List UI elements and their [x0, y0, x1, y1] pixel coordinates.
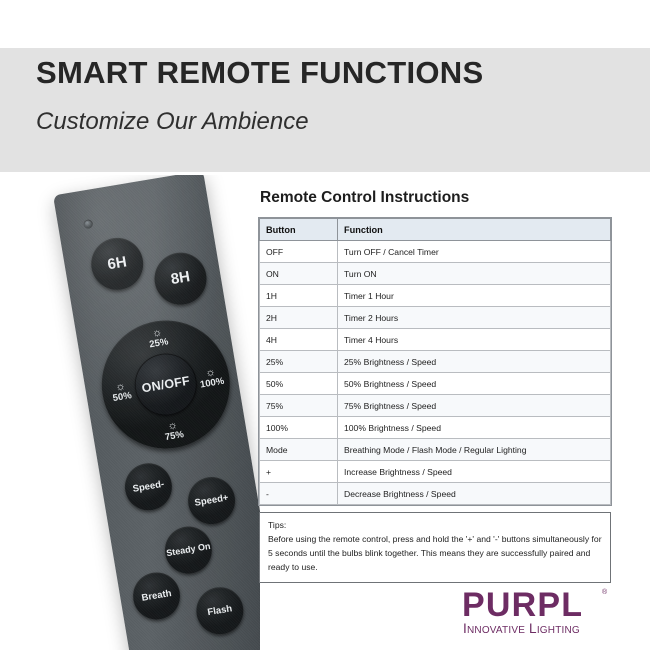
tips-body: Before using the remote control, press a…	[268, 533, 602, 575]
table-row: 2HTimer 2 Hours	[260, 307, 611, 329]
remote-button-6h-label: 6H	[106, 255, 128, 274]
cell-function: Breathing Mode / Flash Mode / Regular Li…	[338, 439, 611, 461]
remote-dpad-75-label: 75%	[164, 429, 185, 443]
cell-button: Mode	[260, 439, 338, 461]
remote-button-8h-label: 8H	[170, 269, 192, 288]
table-row: 25%25% Brightness / Speed	[260, 351, 611, 373]
instructions-heading: Remote Control Instructions	[260, 189, 469, 207]
cell-button: +	[260, 461, 338, 483]
table-row: 1HTimer 1 Hour	[260, 285, 611, 307]
remote-button-breath[interactable]: Breath	[129, 569, 183, 623]
cell-function: Turn OFF / Cancel Timer	[338, 241, 611, 263]
remote-button-steady-on-label: Steady On	[166, 542, 211, 559]
remote-dpad-75[interactable]: ☼ 75%	[162, 419, 184, 442]
page-title: SMART REMOTE FUNCTIONS	[36, 55, 483, 91]
cell-function: Timer 2 Hours	[338, 307, 611, 329]
cell-button: 1H	[260, 285, 338, 307]
table-row: 50%50% Brightness / Speed	[260, 373, 611, 395]
remote-button-flash[interactable]: Flash	[193, 584, 247, 638]
remote-button-speed-up-label: Speed+	[194, 493, 229, 508]
remote-body: 6H 8H ☼ 25% ☼ 50% ☼ 100%	[53, 175, 260, 650]
cell-button: 50%	[260, 373, 338, 395]
cell-button: OFF	[260, 241, 338, 263]
table-row: +Increase Brightness / Speed	[260, 461, 611, 483]
remote-button-speed-down-label: Speed-	[132, 479, 165, 494]
remote-dpad-25[interactable]: ☼ 25%	[147, 326, 169, 349]
cell-function: Timer 1 Hour	[338, 285, 611, 307]
page-subtitle: Customize Our Ambience	[36, 108, 309, 136]
column-header-button: Button	[260, 219, 338, 241]
cell-function: 100% Brightness / Speed	[338, 417, 611, 439]
remote-control-image: 6H 8H ☼ 25% ☼ 50% ☼ 100%	[0, 175, 260, 650]
led-indicator	[83, 219, 93, 229]
table-row: OFFTurn OFF / Cancel Timer	[260, 241, 611, 263]
table-row: 100%100% Brightness / Speed	[260, 417, 611, 439]
table-row: ONTurn ON	[260, 263, 611, 285]
instructions-table: Button Function OFFTurn OFF / Cancel Tim…	[259, 218, 611, 505]
remote-button-flash-label: Flash	[207, 604, 233, 618]
cell-button: 25%	[260, 351, 338, 373]
tips-label: Tips:	[268, 519, 602, 533]
cell-function: Increase Brightness / Speed	[338, 461, 611, 483]
remote-dpad-100-label: 100%	[199, 376, 225, 391]
remote-button-6h[interactable]: 6H	[87, 234, 147, 294]
cell-function: 50% Brightness / Speed	[338, 373, 611, 395]
cell-button: -	[260, 483, 338, 505]
cell-function: Timer 4 Hours	[338, 329, 611, 351]
instructions-table-body: OFFTurn OFF / Cancel TimerONTurn ON1HTim…	[260, 241, 611, 505]
remote-button-8h[interactable]: 8H	[151, 249, 211, 309]
cell-button: ON	[260, 263, 338, 285]
table-row: 75%75% Brightness / Speed	[260, 395, 611, 417]
remote-button-breath-label: Breath	[141, 589, 172, 604]
cell-function: Decrease Brightness / Speed	[338, 483, 611, 505]
remote-dpad-50-label: 50%	[112, 390, 133, 404]
cell-button: 75%	[260, 395, 338, 417]
tips-box: Tips: Before using the remote control, p…	[259, 512, 611, 583]
remote-button-speed-down[interactable]: Speed-	[121, 460, 175, 514]
registered-trademark-icon: ®	[602, 589, 607, 596]
cell-function: 75% Brightness / Speed	[338, 395, 611, 417]
table-row: 4HTimer 4 Hours	[260, 329, 611, 351]
cell-function: Turn ON	[338, 263, 611, 285]
remote-button-steady-on[interactable]: Steady On	[161, 523, 215, 577]
remote-dpad[interactable]: ☼ 25% ☼ 50% ☼ 100% ☼ 75% ON/OFF	[92, 311, 239, 458]
table-header-row: Button Function	[260, 219, 611, 241]
remote-dpad-25-label: 25%	[149, 336, 170, 350]
poster-root: SMART REMOTE FUNCTIONS Customize Our Amb…	[0, 0, 650, 650]
remote-dpad-100[interactable]: ☼ 100%	[198, 366, 225, 390]
remote-button-speed-up[interactable]: Speed+	[185, 474, 239, 528]
remote-button-onoff[interactable]: ON/OFF	[130, 349, 201, 420]
brand-logo-tagline: Innovative Lighting	[463, 621, 580, 636]
remote-dpad-50[interactable]: ☼ 50%	[110, 380, 132, 403]
column-header-function: Function	[338, 219, 611, 241]
table-row: -Decrease Brightness / Speed	[260, 483, 611, 505]
cell-button: 2H	[260, 307, 338, 329]
brand-logo-word: PURPL	[462, 588, 583, 622]
cell-function: 25% Brightness / Speed	[338, 351, 611, 373]
cell-button: 100%	[260, 417, 338, 439]
brand-logo: PURPL ® Innovative Lighting	[462, 588, 622, 636]
cell-button: 4H	[260, 329, 338, 351]
table-row: ModeBreathing Mode / Flash Mode / Regula…	[260, 439, 611, 461]
remote-button-onoff-label: ON/OFF	[141, 374, 191, 396]
